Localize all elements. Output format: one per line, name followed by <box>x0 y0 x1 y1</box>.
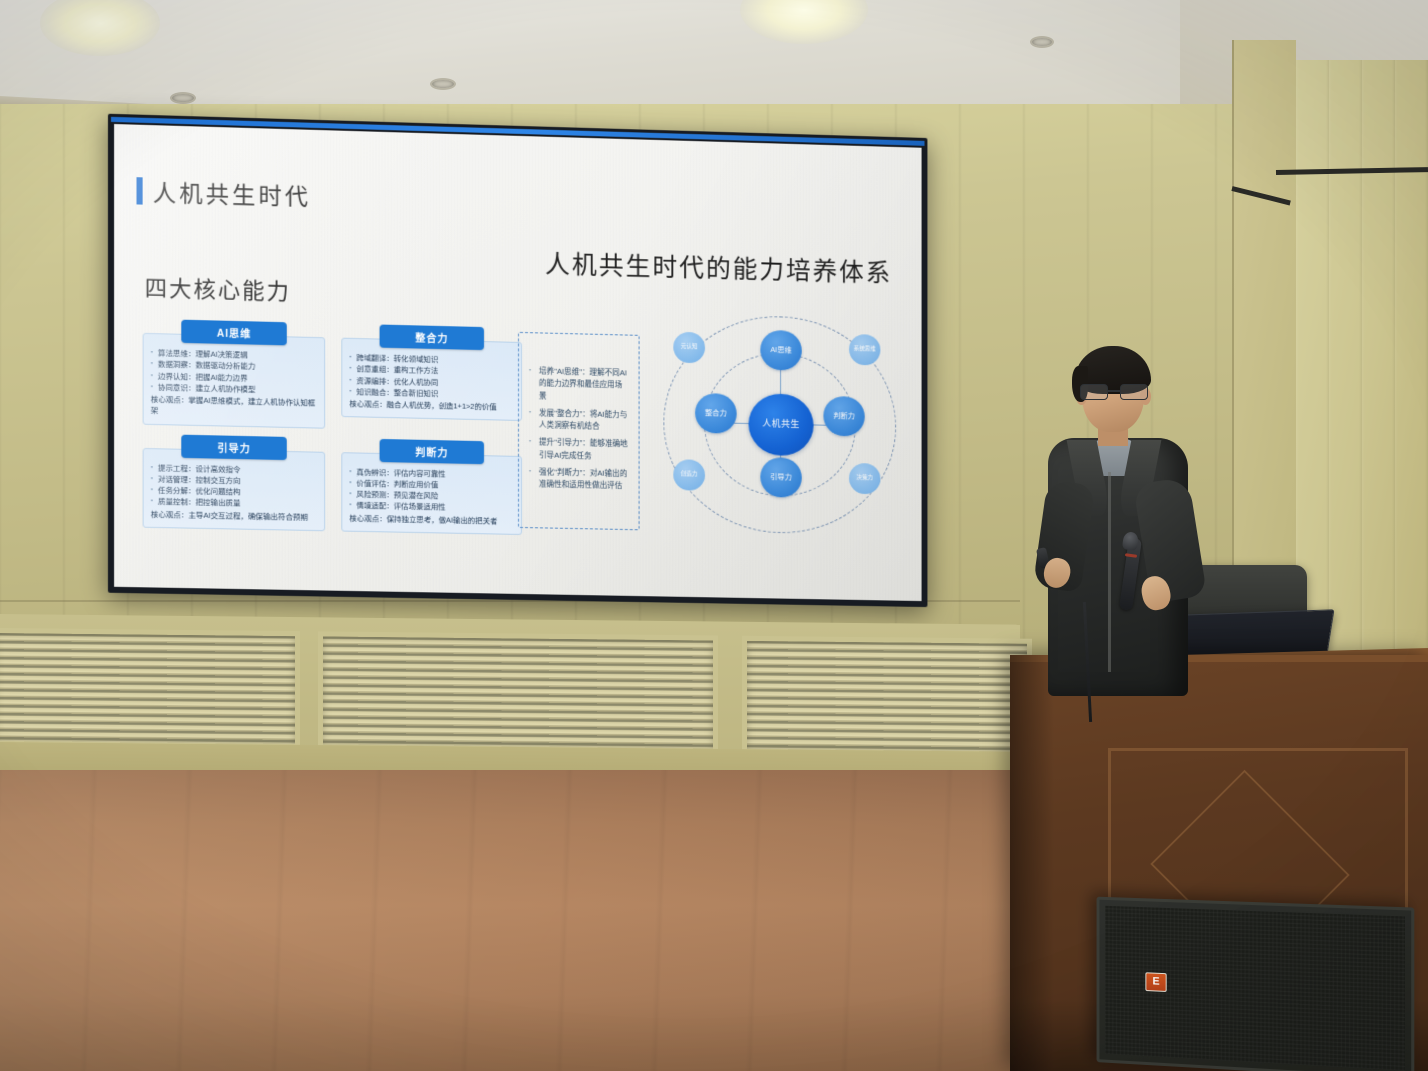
card-core-point: 核心观点：保持独立思考，做AI输出的把关者 <box>349 512 514 526</box>
lecture-hall-scene: 人机共生时代 人机共生时代的能力培养体系 四大核心能力 AI思维 算法思维：理解… <box>0 0 1428 1071</box>
wall-vent-panel <box>742 636 1032 757</box>
key-points-box: 培养"AI思维"：理解不同AI的能力边界和最佳应用场景 发展"整合力"：将AI能… <box>518 332 640 530</box>
diagram-center-node: 人机共生 <box>749 393 814 456</box>
ceiling-downlight-off <box>170 92 196 104</box>
capability-card: 判断力 真伪辨识：评估内容可靠性 价值评估：判断应用价值 风险预测：预见潜在风险… <box>341 438 522 535</box>
card-bullet-list: 跨域翻译：转化领域知识 创意重组：重构工作方法 资源编排：优化人机协同 知识融合… <box>349 352 514 401</box>
card-bullet-list: 真伪辨识：评估内容可靠性 价值评估：判断应用价值 风险预测：预见潜在风险 情境适… <box>349 466 514 514</box>
card-title-chip: 整合力 <box>380 325 484 351</box>
capability-cards: AI思维 算法思维：理解AI决策逻辑 数据洞察：数据驱动分析能力 边界认知：把握… <box>143 319 524 544</box>
card-title-chip: AI思维 <box>181 320 286 346</box>
card-bullet-list: 提示工程：设计高效指令 对话管理：控制交互方向 任务分解：优化问题结构 质量控制… <box>151 462 317 511</box>
glasses-icon <box>1078 384 1150 400</box>
slide-main-title: 人机共生时代的能力培养体系 <box>545 245 892 290</box>
speaker-brand-badge: E <box>1145 972 1166 992</box>
key-point: 强化"判断力"：对AI输出的准确性和适用性做出评估 <box>528 466 630 493</box>
card-body: 算法思维：理解AI决策逻辑 数据洞察：数据驱动分析能力 边界认知：把握AI能力边… <box>143 333 326 428</box>
key-point: 发展"整合力"：将AI能力与人类洞察有机结合 <box>528 407 630 434</box>
card-body: 真伪辨识：评估内容可靠性 价值评估：判断应用价值 风险预测：预见潜在风险 情境适… <box>341 452 522 535</box>
card-core-point: 核心观点：主导AI交互过程，确保输出符合预期 <box>151 508 317 523</box>
capability-card: AI思维 算法思维：理解AI决策逻辑 数据洞察：数据驱动分析能力 边界认知：把握… <box>143 319 326 428</box>
capability-card: 整合力 跨域翻译：转化领域知识 创意重组：重构工作方法 资源编排：优化人机协同 … <box>341 324 522 433</box>
key-point: 培养"AI思维"：理解不同AI的能力边界和最佳应用场景 <box>528 365 630 404</box>
card-core-point: 核心观点：掌握AI思维模式，建立人机协作认知框架 <box>151 394 317 420</box>
slide-header-text: 人机共生时代 <box>153 174 311 213</box>
capability-card: 引导力 提示工程：设计高效指令 对话管理：控制交互方向 任务分解：优化问题结构 … <box>143 433 326 531</box>
header-accent-bar <box>137 177 143 204</box>
presenter-jacket-zipper <box>1108 472 1111 672</box>
diagram-node-systems-thinking: 系统思维 <box>849 334 880 365</box>
card-title-chip: 引导力 <box>181 434 286 459</box>
diagram-node-decision: 决策力 <box>849 463 880 494</box>
card-core-point: 核心观点：融合人机优势，创造1+1>2的价值 <box>349 398 514 413</box>
key-points-list: 培养"AI思维"：理解不同AI的能力边界和最佳应用场景 发展"整合力"：将AI能… <box>528 365 630 493</box>
card-body: 跨域翻译：转化领域知识 创意重组：重构工作方法 资源编排：优化人机协同 知识融合… <box>341 338 522 422</box>
capability-diagram: 元认知 系统思维 创造力 决策力 AI思维 判断力 引导力 整合力 人机共生 <box>657 307 904 541</box>
ceiling-downlight-off <box>1030 36 1054 48</box>
presenter <box>1030 340 1260 760</box>
ceiling-downlight-off <box>430 78 456 90</box>
section-label: 四大核心能力 <box>145 270 291 306</box>
card-body: 提示工程：设计高效指令 对话管理：控制交互方向 任务分解：优化问题结构 质量控制… <box>143 447 326 531</box>
glasses-lens-right <box>1120 384 1148 400</box>
wall-vent-panel <box>0 628 300 749</box>
loudspeaker-cabinet: E <box>1097 897 1415 1071</box>
diagram-node-creativity: 创造力 <box>673 459 705 491</box>
glasses-lens-left <box>1080 384 1108 400</box>
diagram-node-integration: 整合力 <box>695 393 737 434</box>
projection-screen: 人机共生时代 人机共生时代的能力培养体系 四大核心能力 AI思维 算法思维：理解… <box>108 114 927 607</box>
wall-vent-panel <box>318 631 718 753</box>
key-point: 提升"引导力"：能够准确地引导AI完成任务 <box>528 437 630 464</box>
wall-panel-right <box>1296 60 1428 660</box>
diagram-node-guidance: 引导力 <box>760 457 801 498</box>
presentation-slide: 人机共生时代 人机共生时代的能力培养体系 四大核心能力 AI思维 算法思维：理解… <box>114 124 921 601</box>
card-row: AI思维 算法思维：理解AI决策逻辑 数据洞察：数据驱动分析能力 边界认知：把握… <box>143 319 524 433</box>
card-bullet-list: 算法思维：理解AI决策逻辑 数据洞察：数据驱动分析能力 边界认知：把握AI能力边… <box>151 347 317 396</box>
card-row: 引导力 提示工程：设计高效指令 对话管理：控制交互方向 任务分解：优化问题结构 … <box>143 433 524 534</box>
glasses-bridge <box>1108 390 1120 392</box>
diagram-node-judgment: 判断力 <box>823 396 864 437</box>
slide-header: 人机共生时代 <box>137 173 312 212</box>
diagram-node-ai-thinking: AI思维 <box>760 330 801 371</box>
diagram-node-meta-cognition: 元认知 <box>673 332 705 364</box>
card-title-chip: 判断力 <box>380 438 484 463</box>
